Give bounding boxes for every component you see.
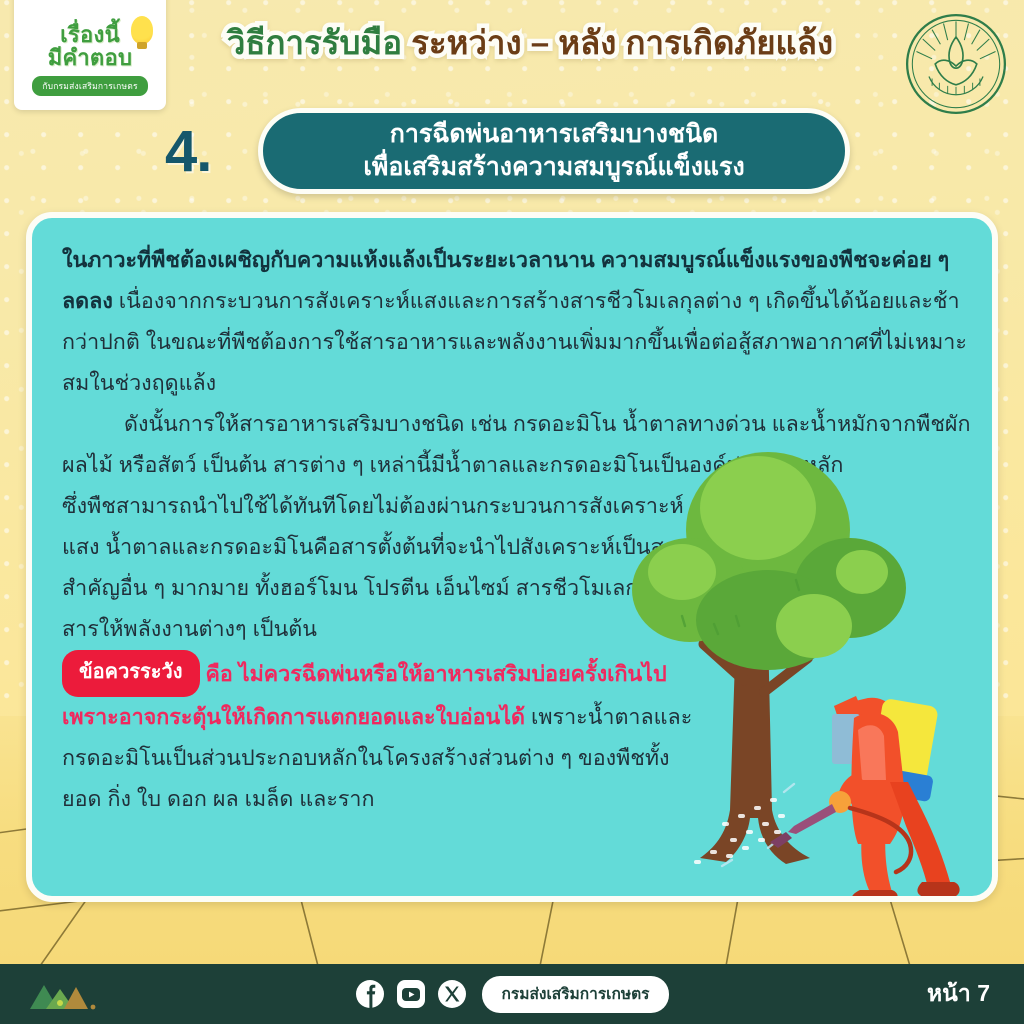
brand-subtitle: กับกรมส่งเสริมการเกษตร bbox=[32, 76, 147, 96]
lightbulb-icon bbox=[131, 16, 153, 44]
paragraph-1: ในภาวะที่พืชต้องเผชิญกับความแห้งแล้งเป็น… bbox=[62, 240, 974, 404]
brand-wordmark: เรื่องนี้ มีคำตอบ bbox=[25, 24, 155, 70]
farmer-spraying-tree-illustration bbox=[618, 430, 998, 900]
content-card: ในภาวะที่พืชต้องเผชิญกับความแห้งแล้งเป็น… bbox=[26, 212, 998, 902]
page-number: หน้า 7 bbox=[927, 976, 990, 1012]
tree-canopy-icon bbox=[632, 452, 906, 670]
section-number: 4. bbox=[165, 118, 211, 185]
warning-badge: ข้อควรระวัง bbox=[62, 650, 200, 697]
department-badge: กรมส่งเสริมการเกษตร bbox=[482, 976, 670, 1013]
section-heading-line-2: เพื่อเสริมสร้างความสมบูรณ์แข็งแรง bbox=[363, 151, 744, 184]
farmer-icon bbox=[770, 696, 960, 900]
facebook-icon[interactable] bbox=[355, 979, 385, 1009]
brand-logo-card: เรื่องนี้ มีคำตอบ กับกรมส่งเสริมการเกษตร bbox=[14, 0, 166, 110]
government-seal-icon bbox=[904, 12, 1008, 116]
brand-line-2: มีคำตอบ bbox=[25, 46, 155, 70]
page-title: วิธีการรับมือ ระหว่าง – หลัง การเกิดภัยแ… bbox=[190, 22, 870, 64]
title-green-part: วิธีการรับมือ bbox=[227, 24, 411, 61]
paragraph-3: ซึ่งพืชสามารถนำไปใช้ได้ทันทีโดยไม่ต้องผ่… bbox=[62, 486, 712, 650]
section-heading-line-1: การฉีดพ่นอาหารเสริมบางชนิด bbox=[390, 118, 719, 151]
infographic-page: เรื่องนี้ มีคำตอบ กับกรมส่งเสริมการเกษตร… bbox=[0, 0, 1024, 1024]
p3-run: ซึ่งพืชสามารถนำไปใช้ได้ทันทีโดยไม่ต้องผ่… bbox=[62, 494, 696, 641]
social-links: กรมส่งเสริมการเกษตร bbox=[0, 976, 1024, 1013]
section-heading-pill: การฉีดพ่นอาหารเสริมบางชนิด เพื่อเสริมสร้… bbox=[258, 108, 850, 194]
p1-normal-run: เนื่องจากกระบวนการสังเคราะห์แสงและการสร้… bbox=[62, 289, 967, 395]
title-brown-part: ระหว่าง – หลัง การเกิดภัยแล้ง bbox=[411, 24, 833, 61]
youtube-icon[interactable] bbox=[396, 979, 426, 1009]
x-twitter-icon[interactable] bbox=[437, 979, 467, 1009]
footer-bar: กรมส่งเสริมการเกษตร หน้า 7 bbox=[0, 964, 1024, 1024]
warning-paragraph: ข้อควรระวังคือ ไม่ควรฉีดพ่นหรือให้อาหารเ… bbox=[62, 650, 712, 820]
